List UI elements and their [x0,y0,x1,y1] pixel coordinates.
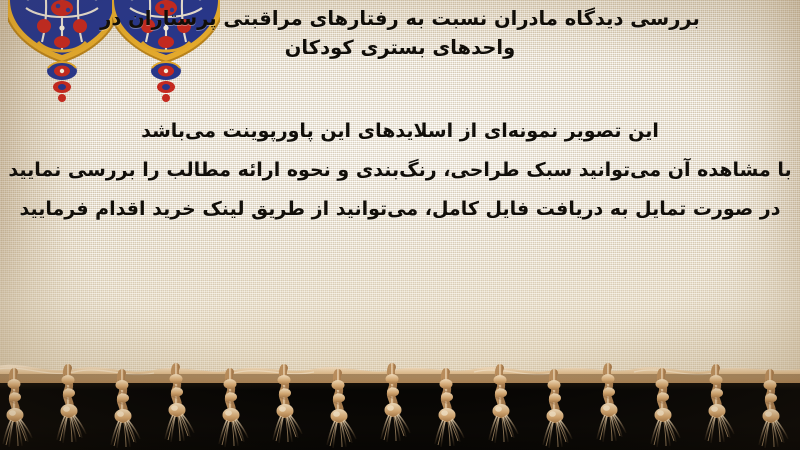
carpet-fringe [0,362,800,450]
medallion-pendant-upper [151,62,181,80]
fringe-svg [0,362,800,450]
medallion-pendant-lower [53,81,71,93]
presentation-slide: بررسی دیدگاه مادران نسبت به رفتارهای مرا… [0,0,800,450]
slide-title: بررسی دیدگاه مادران نسبت به رفتارهای مرا… [0,4,800,62]
medallion-bead [58,94,66,102]
medallion-bead [162,94,170,102]
medallion-pendant-lower [157,81,175,93]
slide-body-line-1: این تصویر نمونه‌ای از اسلایدهای این پاور… [0,112,800,151]
slide-title-line-1: بررسی دیدگاه مادران نسبت به رفتارهای مرا… [0,4,800,33]
tassel-row [3,367,788,449]
medallion-pendant-upper [47,62,77,80]
slide-body-line-3: در صورت تمایل به دریافت فایل کامل، می‌تو… [0,190,800,229]
slide-body: این تصویر نمونه‌ای از اسلایدهای این پاور… [0,112,800,229]
slide-title-line-2: واحدهای بستری کودکان [0,33,800,62]
slide-body-line-2: با مشاهده آن می‌توانید سبک طراحی، رنگ‌بن… [0,151,800,190]
